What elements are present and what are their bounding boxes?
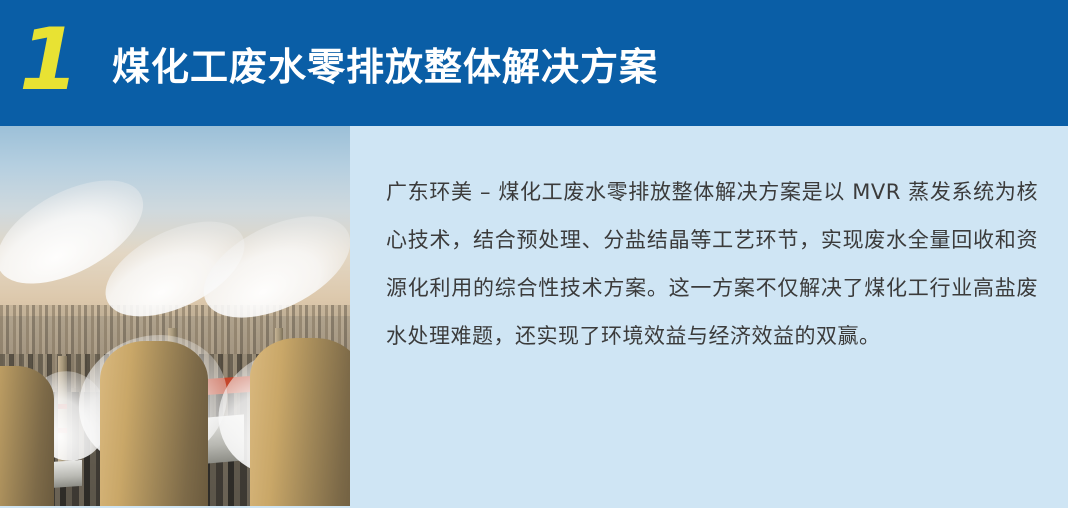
section-header-bar: 1 煤化工废水零排放整体解决方案 — [0, 0, 1068, 126]
content-area: 广东环美 – 煤化工废水零排放整体解决方案是以 MVR 蒸发系统为核心技术，结合… — [0, 126, 1068, 510]
industrial-photo — [0, 126, 350, 506]
cooling-tower — [100, 341, 208, 506]
cooling-tower — [0, 366, 54, 506]
page-title: 煤化工废水零排放整体解决方案 — [112, 36, 658, 91]
description-paragraph: 广东环美 – 煤化工废水零排放整体解决方案是以 MVR 蒸发系统为核心技术，结合… — [386, 168, 1038, 360]
cooling-tower — [250, 338, 350, 506]
section-number: 1 — [0, 17, 96, 109]
description-panel: 广东环美 – 煤化工废水零排放整体解决方案是以 MVR 蒸发系统为核心技术，结合… — [350, 126, 1068, 510]
slide-page: 1 煤化工废水零排放整体解决方案 — [0, 0, 1071, 510]
